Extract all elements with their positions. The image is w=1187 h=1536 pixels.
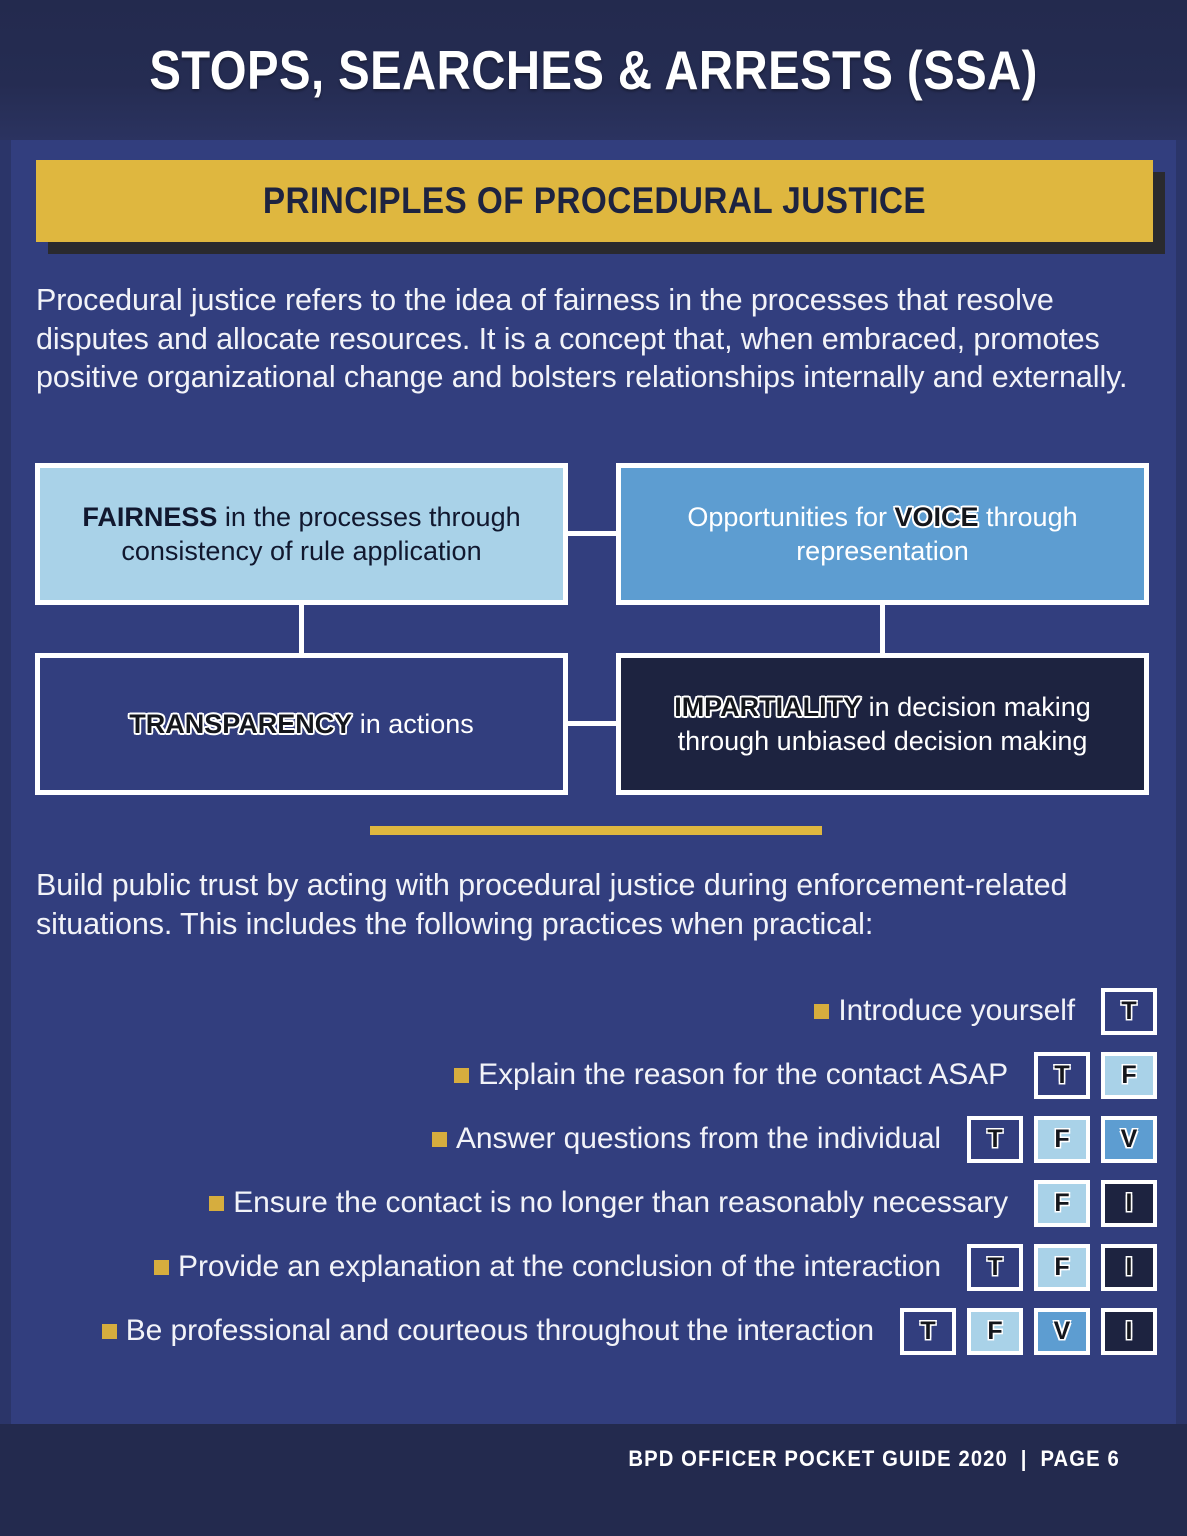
principle-text-impartiality: IMPARTIALITY in decision making through … (633, 690, 1132, 758)
principle-badge-f: F (967, 1308, 1023, 1355)
principle-detail-transparency: in actions (352, 709, 474, 739)
gold-divider (370, 826, 822, 835)
section-banner: PRINCIPLES OF PROCEDURAL JUSTICE (36, 160, 1153, 242)
principle-box-impartiality: IMPARTIALITY in decision making through … (616, 653, 1149, 795)
principle-badge-t: T (1034, 1052, 1090, 1099)
principle-box-transparency: TRANSPARENCY in actions (35, 653, 568, 795)
principle-keyword-voice: VOICE (895, 502, 979, 532)
connector-transparency-impartiality (568, 721, 616, 726)
principle-badge-f: F (1034, 1180, 1090, 1227)
practice-row: Answer questions from the individualTFV (432, 1113, 1157, 1165)
bullet-square-icon (154, 1260, 169, 1275)
page-header: STOPS, SEARCHES & ARRESTS (SSA) (0, 0, 1187, 140)
practice-text: Answer questions from the individual (456, 1122, 941, 1156)
practice-badges: FI (1034, 1180, 1157, 1227)
practice-row: Ensure the contact is no longer than rea… (209, 1177, 1157, 1229)
principle-badge-f: F (1101, 1052, 1157, 1099)
practice-row: Explain the reason for the contact ASAPT… (454, 1049, 1157, 1101)
practice-text: Introduce yourself (838, 994, 1075, 1028)
practice-badges: TFI (967, 1244, 1157, 1291)
intro-paragraph: Procedural justice refers to the idea of… (36, 281, 1131, 397)
principle-badge-f: F (1034, 1116, 1090, 1163)
principle-keyword-impartiality: IMPARTIALITY (674, 692, 861, 722)
principle-box-fairness: FAIRNESS in the processes through consis… (35, 463, 568, 605)
bullet-square-icon (814, 1004, 829, 1019)
principle-badge-i: I (1101, 1180, 1157, 1227)
principle-keyword-fairness: FAIRNESS (82, 502, 217, 532)
practice-badges: TFVI (900, 1308, 1157, 1355)
principle-badge-t: T (900, 1308, 956, 1355)
principle-badge-t: T (967, 1244, 1023, 1291)
footer-guide-label: BPD OFFICER POCKET GUIDE 2020 (628, 1446, 1008, 1471)
principle-text-fairness: FAIRNESS in the processes through consis… (52, 500, 551, 568)
practice-row: Introduce yourselfT (814, 985, 1157, 1037)
connector-fairness-voice (568, 531, 616, 536)
connector-fairness-transparency (299, 605, 304, 653)
practices-list: Introduce yourselfTExplain the reason fo… (20, 985, 1157, 1369)
practice-text: Provide an explanation at the conclusion… (178, 1250, 941, 1284)
principle-badge-v: V (1101, 1116, 1157, 1163)
principle-text-voice: Opportunities for VOICE through represen… (633, 500, 1132, 568)
principle-badge-f: F (1034, 1244, 1090, 1291)
procedural-justice-diagram: FAIRNESS in the processes through consis… (35, 463, 1149, 793)
practice-row: Provide an explanation at the conclusion… (154, 1241, 1157, 1293)
footer-separator: | (1021, 1446, 1028, 1472)
footer-page-label: PAGE 6 (1040, 1446, 1119, 1471)
principle-badge-i: I (1101, 1308, 1157, 1355)
practice-text: Ensure the contact is no longer than rea… (233, 1186, 1008, 1220)
practice-badges: T (1101, 988, 1157, 1035)
practice-badges: TF (1034, 1052, 1157, 1099)
bullet-square-icon (102, 1324, 117, 1339)
bullet-square-icon (209, 1196, 224, 1211)
principle-box-voice: Opportunities for VOICE through represen… (616, 463, 1149, 605)
lead-paragraph: Build public trust by acting with proced… (36, 866, 1131, 943)
bullet-square-icon (432, 1132, 447, 1147)
footer-caption: BPD OFFICER POCKET GUIDE 2020|PAGE 6 (628, 1446, 1119, 1472)
page-title: STOPS, SEARCHES & ARRESTS (SSA) (149, 38, 1038, 102)
page-footer: BPD OFFICER POCKET GUIDE 2020|PAGE 6 (0, 1424, 1187, 1536)
page-canvas: STOPS, SEARCHES & ARRESTS (SSA) PRINCIPL… (0, 0, 1187, 1536)
bullet-square-icon (454, 1068, 469, 1083)
principle-badge-t: T (967, 1116, 1023, 1163)
practice-row: Be professional and courteous throughout… (102, 1305, 1157, 1357)
practice-badges: TFV (967, 1116, 1157, 1163)
principle-text-transparency: TRANSPARENCY in actions (129, 707, 474, 741)
practice-text: Explain the reason for the contact ASAP (478, 1058, 1008, 1092)
banner-plate: PRINCIPLES OF PROCEDURAL JUSTICE (36, 160, 1153, 242)
principle-prefix-voice: Opportunities for (687, 502, 894, 532)
connector-voice-impartiality (880, 605, 885, 653)
principle-badge-t: T (1101, 988, 1157, 1035)
principle-keyword-transparency: TRANSPARENCY (129, 709, 352, 739)
banner-title: PRINCIPLES OF PROCEDURAL JUSTICE (263, 180, 926, 222)
principle-badge-i: I (1101, 1244, 1157, 1291)
practice-text: Be professional and courteous throughout… (126, 1314, 874, 1348)
principle-badge-v: V (1034, 1308, 1090, 1355)
